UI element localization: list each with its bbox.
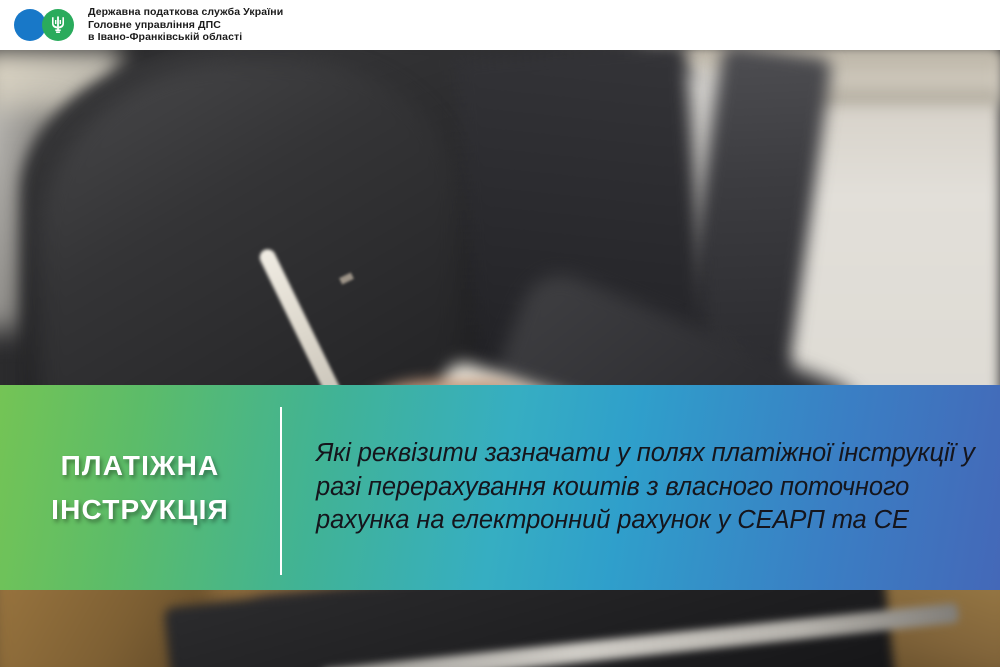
banner-subtitle-block: Які реквізити зазначати у полях платіжно… [316, 385, 976, 590]
banner-inner: ПЛАТІЖНА ІНСТРУКЦІЯ Які реквізити зазнач… [0, 385, 1000, 590]
green-circle-trident-icon [42, 9, 74, 41]
agency-name-block: Державна податкова служба України Головн… [88, 6, 283, 44]
site-header: Державна податкова служба України Головн… [0, 0, 1000, 50]
agency-logo [14, 8, 78, 42]
agency-line-2: Головне управління ДПС [88, 19, 283, 32]
banner-subtitle: Які реквізити зазначати у полях платіжно… [316, 437, 976, 539]
page-root: Державна податкова служба України Головн… [0, 0, 1000, 667]
photo-suit-shoulder [40, 60, 460, 420]
agency-line-1: Державна податкова служба України [88, 6, 283, 19]
banner-title-line-1: ПЛАТІЖНА [61, 444, 220, 487]
banner-divider [280, 407, 282, 575]
announcement-banner: ПЛАТІЖНА ІНСТРУКЦІЯ Які реквізити зазнач… [0, 385, 1000, 590]
agency-line-3: в Івано-Франківській області [88, 31, 283, 44]
banner-title-block: ПЛАТІЖНА ІНСТРУКЦІЯ [0, 385, 280, 590]
banner-title-line-2: ІНСТРУКЦІЯ [51, 488, 229, 531]
